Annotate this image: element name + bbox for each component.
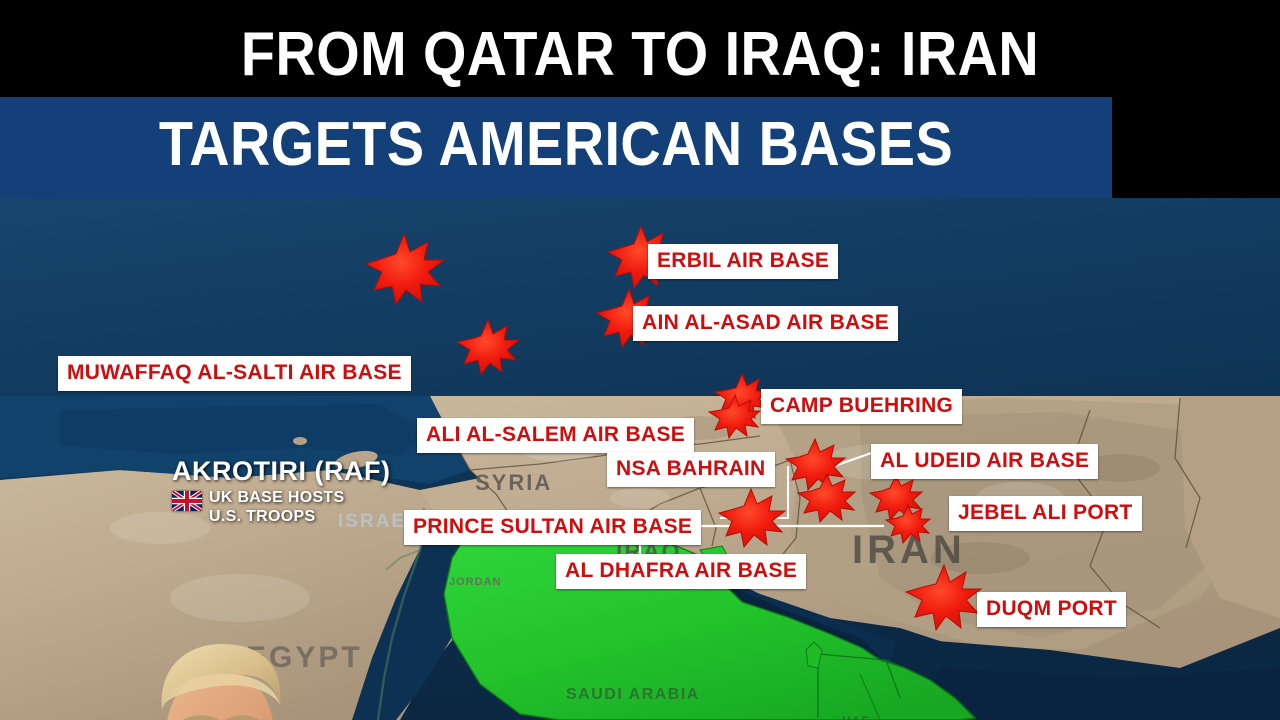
akrotiri-subtitle-line2: U.S. TROOPS xyxy=(209,507,344,526)
base-label-erbil[interactable]: ERBIL AIR BASE xyxy=(648,244,838,279)
broadcast-screen: SYRIA IRAQ IRAN ISRAEL JORDAN EGYPT SAUD… xyxy=(0,0,1280,720)
base-label-camp-buehring[interactable]: CAMP BUEHRING xyxy=(761,389,962,424)
base-label-ain-al-asad[interactable]: AIN AL-ASAD AIR BASE xyxy=(633,306,898,341)
base-label-duqm[interactable]: DUQM PORT xyxy=(977,592,1126,627)
base-label-nsa-bahrain[interactable]: NSA BAHRAIN xyxy=(607,452,775,487)
base-label-ali-al-salem[interactable]: ALI AL-SALEM AIR BASE xyxy=(417,418,694,453)
akrotiri-callout: AKROTIRI (RAF) UK BASE HOSTS U.S. TROOPS xyxy=(172,456,390,526)
base-label-al-dhafra[interactable]: AL DHAFRA AIR BASE xyxy=(556,554,806,589)
base-label-prince-sultan[interactable]: PRINCE SULTAN AIR BASE xyxy=(404,510,701,545)
akrotiri-subtitle-line1: UK BASE HOSTS xyxy=(209,488,344,507)
base-label-al-udeid[interactable]: AL UDEID AIR BASE xyxy=(871,444,1098,479)
headline-band-filler xyxy=(1112,97,1280,198)
headline-line-1: FROM QATAR TO IRAQ: IRAN xyxy=(64,22,1216,88)
trump-photo-cutout xyxy=(86,638,352,720)
akrotiri-title: AKROTIRI (RAF) xyxy=(172,456,390,486)
headline-line-2: TARGETS AMERICAN BASES xyxy=(56,112,1057,178)
base-label-muwaffaq[interactable]: MUWAFFAQ AL-SALTI AIR BASE xyxy=(58,356,411,391)
map-graphic: SYRIA IRAQ IRAN ISRAEL JORDAN EGYPT SAUD… xyxy=(0,198,1280,720)
base-label-jebel-ali[interactable]: JEBEL ALI PORT xyxy=(949,496,1142,531)
uk-flag-icon xyxy=(172,491,202,511)
